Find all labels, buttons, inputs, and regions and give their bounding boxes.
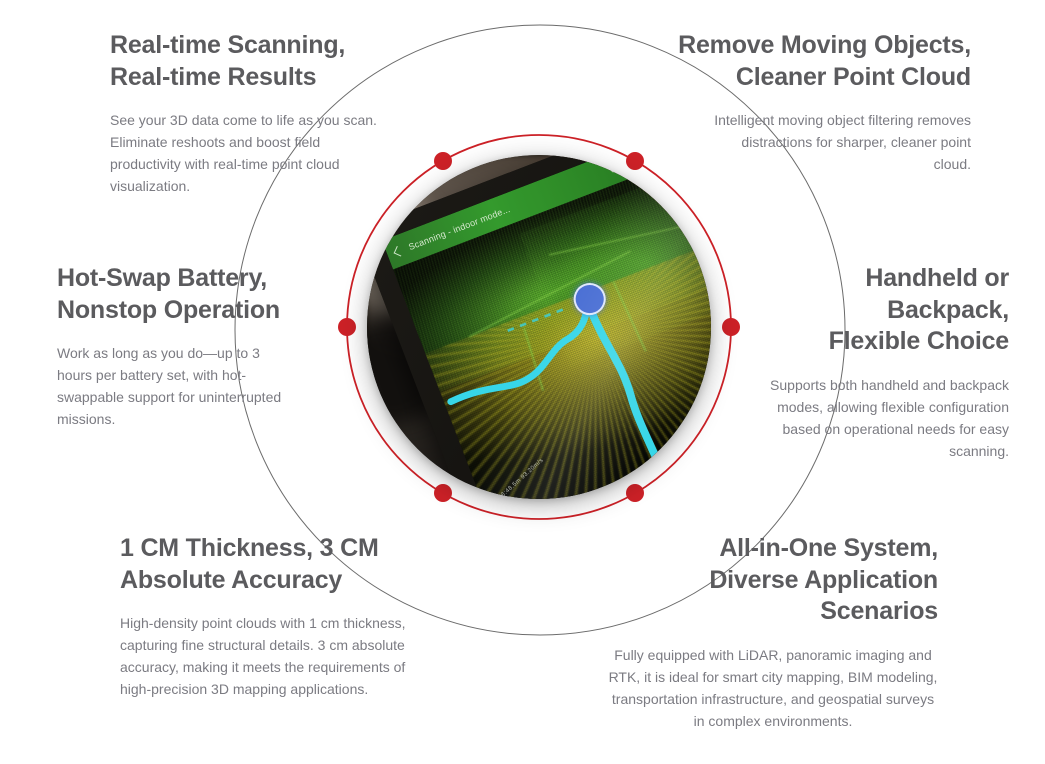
chevron-left-icon[interactable] bbox=[394, 245, 405, 256]
ring-node-right[interactable] bbox=[722, 318, 740, 336]
feature-title: Handheld or Backpack, Flexible Choice bbox=[747, 263, 1009, 358]
feature-title: Remove Moving Objects, Cleaner Point Clo… bbox=[642, 30, 971, 93]
feature-body: Work as long as you do—up to 3 hours per… bbox=[57, 342, 287, 430]
feature-body: High-density point clouds with 1 cm thic… bbox=[120, 612, 420, 700]
feature-remove-moving-objects: Remove Moving Objects, Cleaner Point Clo… bbox=[642, 30, 971, 175]
feature-title: 1 CM Thickness, 3 CM Absolute Accuracy bbox=[120, 533, 420, 596]
feature-body: Fully equipped with LiDAR, panoramic ima… bbox=[608, 644, 938, 732]
feature-title: Hot-Swap Battery, Nonstop Operation bbox=[57, 263, 332, 326]
center-photo: Scanning - indoor mode... 63.8GB/63.9GB bbox=[367, 155, 711, 499]
feature-hot-swap-battery: Hot-Swap Battery, Nonstop Operation Work… bbox=[57, 263, 332, 430]
feature-real-time-scanning: Real-time Scanning, Real-time Results Se… bbox=[110, 30, 380, 197]
feature-all-in-one-system: All-in-One System, Diverse Application S… bbox=[608, 533, 938, 732]
feature-thickness-accuracy: 1 CM Thickness, 3 CM Absolute Accuracy H… bbox=[120, 533, 420, 700]
ring-node-left[interactable] bbox=[338, 318, 356, 336]
feature-body: Intelligent moving object filtering remo… bbox=[642, 109, 971, 175]
feature-body: See your 3D data come to life as you sca… bbox=[110, 109, 380, 197]
feature-handheld-or-backpack: Handheld or Backpack, Flexible Choice Su… bbox=[747, 263, 1009, 462]
feature-body: Supports both handheld and backpack mode… bbox=[747, 374, 1009, 462]
infographic-stage: Scanning - indoor mode... 63.8GB/63.9GB bbox=[0, 0, 1045, 764]
feature-title: Real-time Scanning, Real-time Results bbox=[110, 30, 380, 93]
feature-title: All-in-One System, Diverse Application S… bbox=[608, 533, 938, 628]
